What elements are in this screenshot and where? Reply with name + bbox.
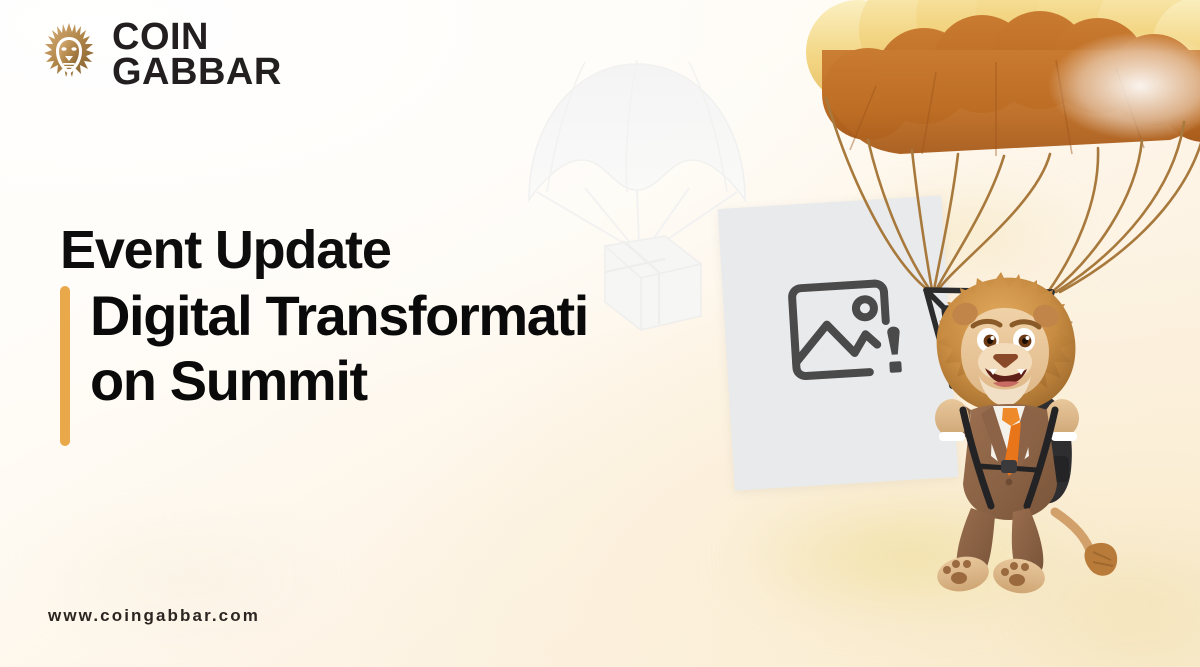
event-banner: COIN GABBAR Event Update Digital Transfo… xyxy=(0,0,1200,667)
logo-text-line1: COIN xyxy=(112,20,282,55)
title-row: Digital Transformation Summit xyxy=(60,284,620,414)
brand-logo[interactable]: COIN GABBAR xyxy=(40,20,282,90)
page-title: Digital Transformation Summit xyxy=(90,284,620,414)
eyebrow-text: Event Update xyxy=(60,222,620,278)
accent-bar xyxy=(60,286,70,446)
lion-mascot-icon xyxy=(905,270,1120,595)
lion-head-icon xyxy=(40,20,98,90)
footer-url[interactable]: www.coingabbar.com xyxy=(48,606,260,626)
headline-block: Event Update Digital Transformation Summ… xyxy=(60,222,620,414)
logo-text-line2: GABBAR xyxy=(112,55,282,90)
hero-illustration xyxy=(700,0,1200,630)
